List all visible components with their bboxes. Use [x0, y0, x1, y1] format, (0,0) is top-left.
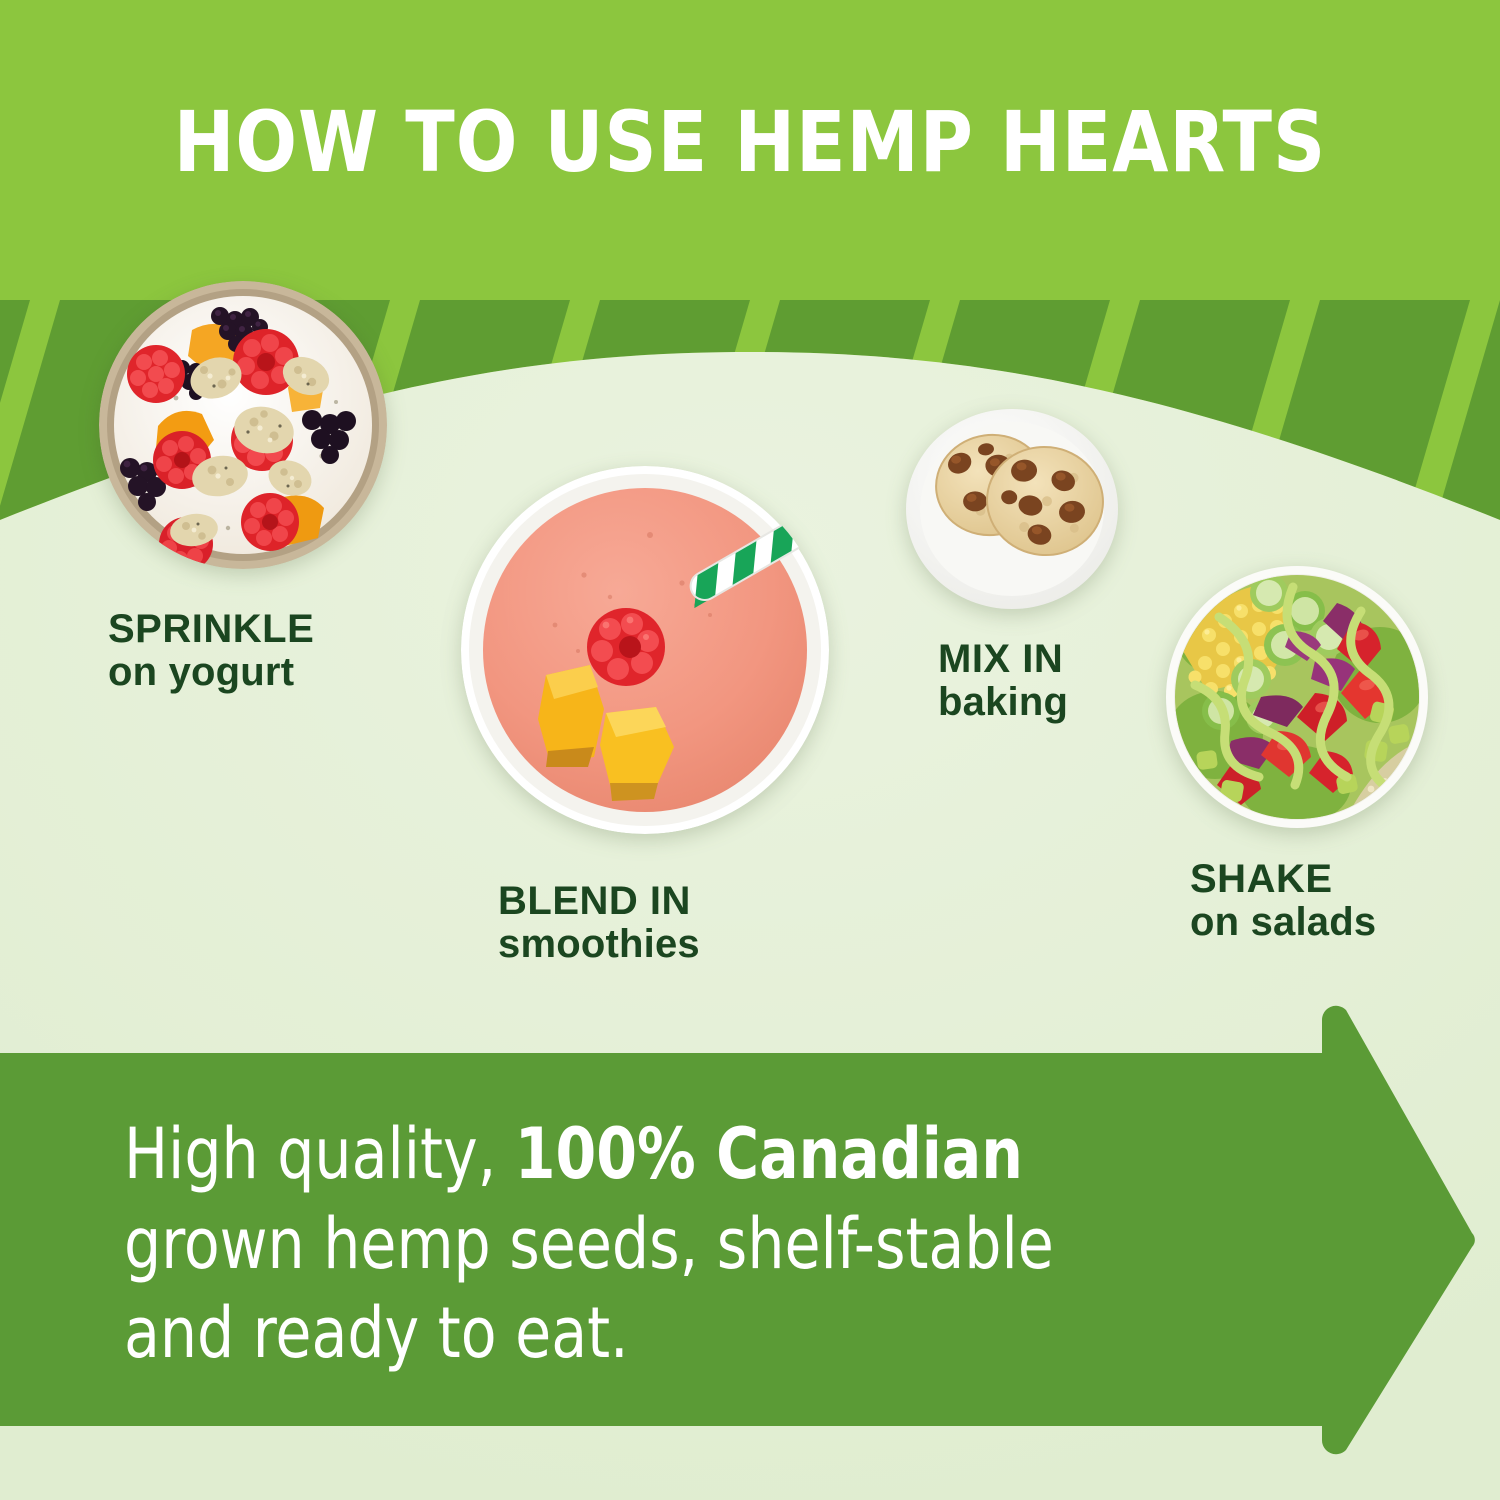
banner-line-1-strong: 100% Canadian — [515, 1113, 1023, 1195]
banner-line-3: and ready to eat. — [124, 1289, 1203, 1379]
page-title: HOW TO USE HEMP HEARTS — [30, 100, 1470, 184]
banner-text: High quality, 100% Canadian grown hemp s… — [124, 1110, 1203, 1379]
banner-line-2: grown hemp seeds, shelf-stable — [124, 1200, 1203, 1290]
smoothie-bowl-photo — [460, 465, 830, 835]
caption-shake-context: on salads — [1190, 901, 1376, 944]
caption-mix-action: MIX IN — [938, 638, 1068, 681]
caption-sprinkle-action: SPRINKLE — [108, 608, 314, 651]
caption-blend-context: smoothies — [498, 923, 700, 966]
salad-bowl-photo — [1165, 565, 1430, 830]
cookies-plate-photo — [905, 405, 1120, 610]
caption-sprinkle-context: on yogurt — [108, 651, 314, 694]
caption-shake: SHAKE on salads — [1190, 858, 1376, 944]
banner-line-1-regular: High quality, — [124, 1113, 515, 1195]
caption-blend-action: BLEND IN — [498, 880, 700, 923]
caption-mix: MIX IN baking — [938, 638, 1068, 724]
yogurt-bowl-photo — [98, 280, 388, 570]
caption-mix-context: baking — [938, 681, 1068, 724]
caption-shake-action: SHAKE — [1190, 858, 1376, 901]
caption-sprinkle: SPRINKLE on yogurt — [108, 608, 314, 694]
caption-blend: BLEND IN smoothies — [498, 880, 700, 966]
infographic-canvas: HOW TO USE HEMP HEARTS — [0, 0, 1500, 1500]
banner-line-1: High quality, 100% Canadian — [124, 1110, 1203, 1200]
